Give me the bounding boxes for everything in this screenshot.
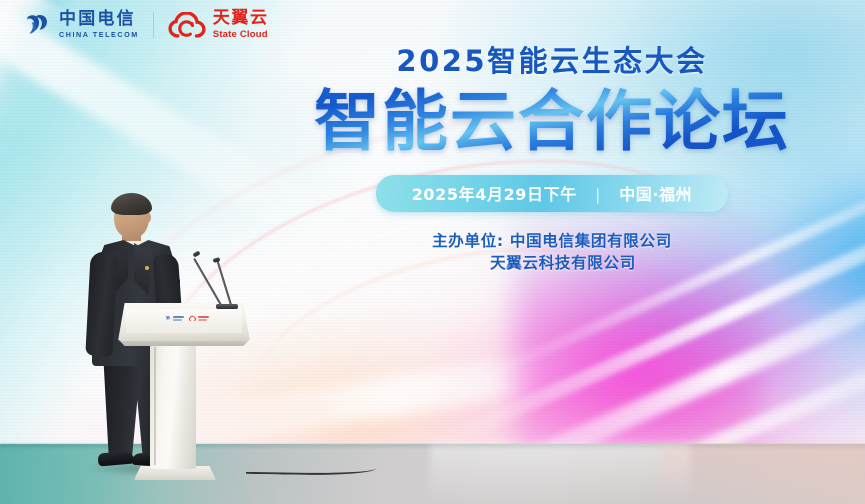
microphone-head-2 [213,257,221,263]
china-telecom-name-en: CHINA TELECOM [59,31,139,38]
podium-logo-state-cloud [189,315,209,322]
presenter-arm-left [85,251,117,356]
state-cloud-name-cn: 天翼云 [213,10,269,27]
event-location: 中国·福州 [619,185,692,204]
header-logo-bar: 中国电信 CHINA TELECOM 天翼云 State Cloud [22,10,269,40]
state-cloud-logo-icon [168,12,206,39]
state-cloud-wordmark: 天翼云 State Cloud [213,10,269,40]
date-location-pill: 2025年4月29日下午 | 中国·福州 [376,175,729,212]
presenter-hair [111,193,152,215]
organizer-block: 主办单位: 中国电信集团有限公司 天翼云科技有限公司 [252,230,852,275]
title-block: 2025智能云生态大会 智能云合作论坛 2025年4月29日下午 | 中国·福州… [252,38,852,275]
brand-china-telecom: 中国电信 CHINA TELECOM [22,10,139,40]
podium-logo-china-telecom [164,315,184,322]
floor-reflection-center [430,444,690,504]
china-telecom-name-cn: 中国电信 [59,11,139,28]
podium-ct-wordmark [173,316,184,320]
organizer-line-1: 主办单位: 中国电信集团有限公司 [252,230,852,252]
floor-reflection-right [660,444,865,504]
presenter-lapel-pin [145,266,149,270]
brand-state-cloud: 天翼云 State Cloud [168,10,269,40]
china-telecom-logo-icon [22,10,52,40]
podium-state-cloud-logo-icon [189,315,196,322]
conference-stage-screenshot: 中国电信 CHINA TELECOM 天翼云 State Cloud 2025智… [0,0,865,504]
logo-divider [153,12,154,38]
podium-sc-wordmark [198,316,209,320]
event-date: 2025年4月29日下午 [412,185,577,204]
china-telecom-wordmark: 中国电信 CHINA TELECOM [59,11,139,38]
forum-main-title: 智能云合作论坛 [252,85,852,159]
ribbon-left-white [0,0,72,504]
podium-lectern [118,303,250,483]
podium-china-telecom-logo-icon [164,315,171,322]
podium-column [150,345,196,469]
event-subtitle: 2025智能云生态大会 [252,38,852,80]
organizer-line-2: 天翼云科技有限公司 [252,252,852,274]
pill-separator: | [595,185,601,204]
podium-column-seam [154,347,156,465]
podium-logo-row [164,315,209,322]
